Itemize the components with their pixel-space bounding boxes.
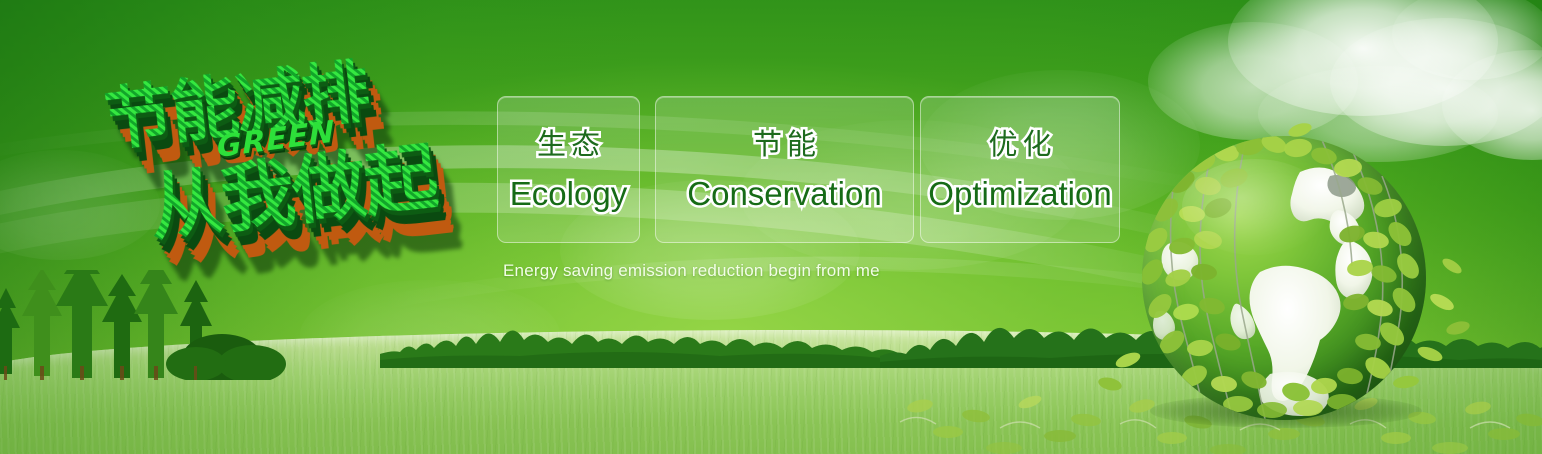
banner-tagline: Energy saving emission reduction begin f…	[503, 261, 880, 281]
pine-tree-icon	[56, 270, 108, 378]
eco-banner: 节能减排 GREEN 从我做起 生态 Ecology 节能 Conservati…	[0, 0, 1542, 454]
feature-card-optimization-cn: 优化	[983, 130, 1056, 159]
pine-tree-icon	[102, 274, 142, 378]
bush-icon	[166, 334, 286, 380]
feature-card-optimization[interactable]: 优化 Optimization	[920, 96, 1120, 243]
feature-card-ecology[interactable]: 生态 Ecology	[497, 96, 640, 243]
feature-card-ecology-cn: 生态	[532, 130, 605, 159]
banner-logo: 节能减排 GREEN 从我做起	[84, 14, 507, 288]
feature-card-conservation[interactable]: 节能 Conservation	[655, 96, 914, 243]
leafy-earth-globe	[1134, 130, 1434, 430]
feature-card-ecology-en: Ecology	[510, 177, 627, 210]
globe-sphere	[1142, 136, 1426, 420]
pine-tree-icon	[0, 288, 20, 374]
pine-tree-icon	[22, 270, 62, 376]
pine-tree-cluster	[0, 270, 350, 380]
feature-card-conservation-en: Conservation	[687, 177, 881, 210]
feature-card-conservation-cn: 节能	[748, 130, 821, 159]
feature-card-optimization-en: Optimization	[928, 177, 1111, 210]
globe-gloss	[1182, 159, 1330, 256]
